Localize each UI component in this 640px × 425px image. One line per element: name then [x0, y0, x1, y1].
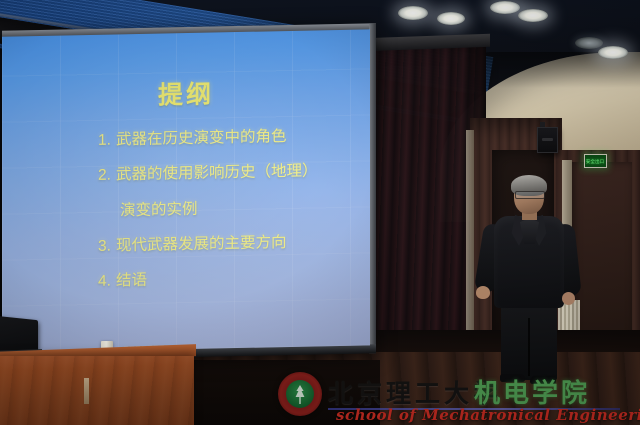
- bullet-number-2: 2.: [98, 167, 111, 184]
- screen-right-bar: [369, 23, 376, 353]
- slide-content: 提纲 1.武器在历史演变中的角色 2.武器的使用影响历史（地理） 演变的实例 3…: [2, 29, 370, 352]
- presentation-slide: 提纲 1.武器在历史演变中的角色 2.武器的使用影响历史（地理） 演变的实例 3…: [2, 29, 370, 352]
- slide-bullet-4: 4.结语: [98, 269, 352, 290]
- exit-sign: 安全出口: [584, 154, 607, 168]
- bullet-text-3: 现代武器发展的主要方向: [116, 234, 287, 254]
- downlight-5: [575, 37, 603, 49]
- downlight-4: [518, 9, 548, 22]
- wall-speaker: [537, 127, 558, 153]
- bullet-text-4: 结语: [116, 272, 147, 290]
- bullet-number-4: 4.: [98, 273, 111, 290]
- slide-bullet-2: 2.武器的使用影响历史（地理）: [98, 163, 352, 184]
- lecture-hall-photo: 安全出口 提纲 1.武器在历史演变中的角色 2.武器的使用影响历史（地理）: [0, 0, 640, 425]
- podium: [0, 356, 194, 425]
- speaker-person: [474, 178, 584, 383]
- person-right-shoe: [530, 376, 556, 384]
- downlight-6: [598, 46, 628, 59]
- person-left-shoe: [500, 374, 525, 382]
- exit-sign-label: 安全出口: [586, 158, 604, 164]
- bullet-text-2b: 演变的实例: [120, 200, 198, 219]
- podium-wood-grain: [0, 356, 194, 425]
- glasses-icon: [515, 191, 545, 199]
- podium-note-slip: [84, 378, 89, 404]
- stage-front-shadow: [180, 360, 380, 425]
- bullet-text-1: 武器在历史演变中的角色: [116, 128, 287, 148]
- slide-bullet-list: 1.武器在历史演变中的角色 2.武器的使用影响历史（地理） 演变的实例 3.现代…: [20, 128, 352, 311]
- person-leg-divider: [528, 318, 530, 376]
- projection-screen: 提纲 1.武器在历史演变中的角色 2.武器的使用影响历史（地理） 演变的实例 3…: [2, 23, 376, 361]
- slide-bullet-2-continuation: 演变的实例: [98, 198, 352, 219]
- downlight-3: [490, 1, 520, 14]
- person-right-hand: [562, 292, 575, 305]
- person-left-hand: [476, 286, 490, 299]
- slide-bullet-3: 3.现代武器发展的主要方向: [98, 234, 352, 255]
- slide-title: 提纲: [20, 72, 352, 115]
- bullet-number-3: 3.: [98, 237, 111, 254]
- downlight-1: [398, 6, 428, 20]
- bullet-number-1: 1.: [98, 132, 111, 149]
- bullet-text-2: 武器的使用影响历史（地理）: [116, 163, 318, 184]
- downlight-2: [437, 12, 465, 25]
- slide-bullet-1: 1.武器在历史演变中的角色: [98, 128, 352, 149]
